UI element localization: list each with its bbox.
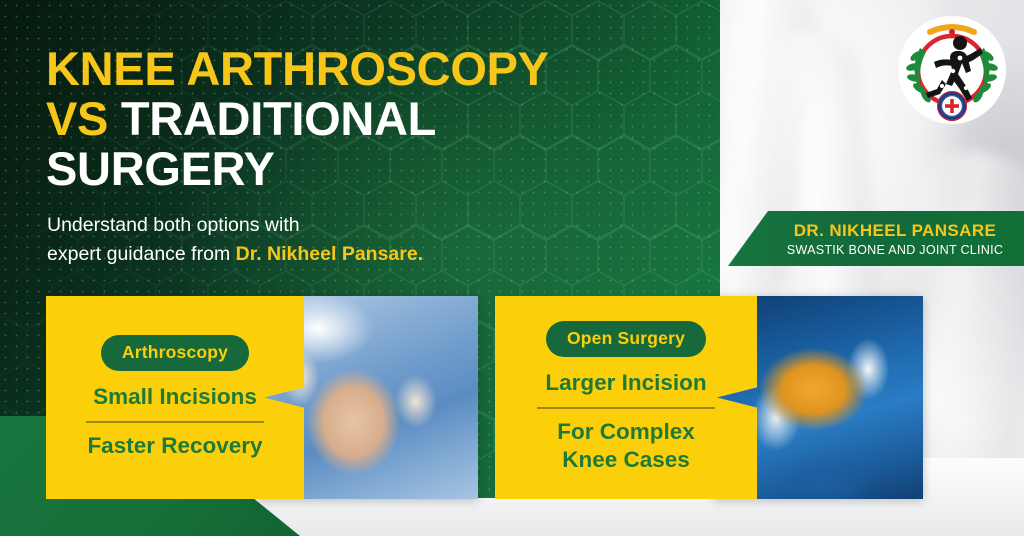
page-title: KNEE ARTHROSCOPY VS TRADITIONAL SURGERY: [46, 44, 686, 194]
headline-line-1: KNEE ARTHROSCOPY: [46, 44, 686, 94]
headline-line-2-rest: TRADITIONAL: [108, 92, 436, 145]
headline-vs-accent: VS: [46, 92, 108, 145]
open-surgery-trait-1: Larger Incision: [545, 370, 706, 396]
clinic-logo: [896, 14, 1008, 126]
doctor-name: DR. NIKHEEL PANSARE: [794, 221, 997, 241]
arthroscopy-benefit-1: Small Incisions: [93, 384, 257, 410]
doctor-name-banner: DR. NIKHEEL PANSARE SWASTIK BONE AND JOI…: [728, 211, 1024, 266]
arthroscopy-badge: Arthroscopy: [101, 335, 249, 371]
card-divider: [537, 407, 715, 409]
comparison-card-arthroscopy: Arthroscopy Small Incisions Faster Recov…: [46, 296, 478, 499]
headline-line-3: SURGERY: [46, 144, 686, 194]
subheading: Understand both options with expert guid…: [47, 211, 567, 269]
subheading-prefix: expert guidance from: [47, 243, 236, 265]
card-divider: [86, 421, 264, 423]
subheading-doctor-name: Dr. Nikheel Pansare.: [236, 243, 424, 265]
subheading-line-1: Understand both options with: [47, 211, 567, 240]
running-figure-emblem-icon: [896, 14, 1008, 126]
knee-surgery-comparison-banner: KNEE ARTHROSCOPY VS TRADITIONAL SURGERY …: [0, 0, 1024, 536]
arthroscopy-benefit-2: Faster Recovery: [87, 432, 262, 460]
clinic-name: SWASTIK BONE AND JOINT CLINIC: [787, 243, 1003, 257]
open-surgery-badge: Open Surgery: [546, 321, 706, 357]
comparison-card-open-surgery: Open Surgery Larger Incision For Complex…: [495, 296, 923, 499]
subheading-line-2: expert guidance from Dr. Nikheel Pansare…: [47, 240, 567, 269]
open-surgery-trait-2: For Complex Knee Cases: [557, 418, 695, 474]
headline-line-2: VS TRADITIONAL: [46, 94, 686, 144]
